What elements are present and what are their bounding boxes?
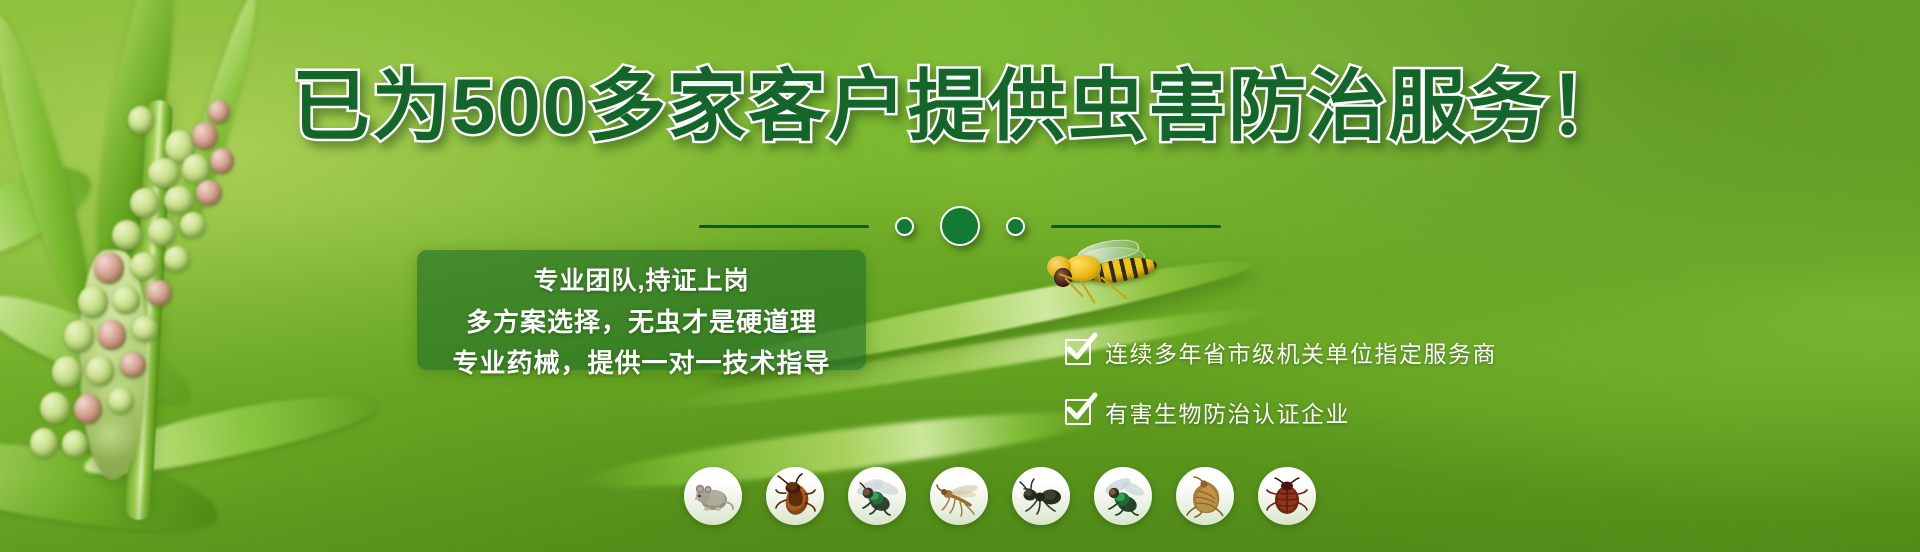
ant-icon — [1018, 473, 1064, 519]
divider-dot-small-right — [1006, 217, 1025, 236]
divider-dot-large — [940, 206, 980, 246]
pest-type-icon-row — [684, 467, 1316, 525]
decorative-divider — [699, 206, 1221, 246]
pest-icon-mosquito[interactable] — [930, 467, 988, 525]
hoverfly-leg — [1078, 277, 1096, 304]
cockroach-icon — [772, 473, 818, 519]
divider-dot-small-left — [895, 217, 914, 236]
checkbox-checked-icon — [1065, 339, 1091, 365]
pest-icon-greenfly[interactable] — [1094, 467, 1152, 525]
pest-control-hero-banner: 已为500多家客户提供虫害防治服务！ 专业团队,持证上岗 多方案选择，无虫才是硬… — [0, 0, 1920, 552]
divider-line-right — [1051, 225, 1221, 228]
list-item: 有害生物防治认证企业 — [1065, 395, 1497, 429]
pest-icon-flea[interactable] — [1176, 467, 1234, 525]
credentials-list: 连续多年省市级机关单位指定服务商 有害生物防治认证企业 — [1065, 335, 1497, 455]
pest-icon-cockroach[interactable] — [766, 467, 824, 525]
slogan-panel-text: 专业团队,持证上岗 多方案选择，无虫才是硬道理 专业药械，提供一对一技术指导 — [417, 252, 866, 384]
greenfly-icon — [1100, 473, 1146, 519]
bedbug-icon — [1264, 473, 1310, 519]
slogan-line-1: 专业团队,持证上岗 — [417, 262, 866, 302]
checkbox-checked-icon — [1065, 399, 1091, 425]
pest-icon-ant[interactable] — [1012, 467, 1070, 525]
divider-line-left — [699, 225, 869, 228]
housefly-icon — [854, 473, 900, 519]
pest-icon-bedbug[interactable] — [1258, 467, 1316, 525]
page-title: 已为500多家客户提供虫害防治服务！ — [0, 66, 1920, 148]
mosquito-icon — [936, 473, 982, 519]
pest-icon-rat[interactable] — [684, 467, 742, 525]
credential-text: 连续多年省市级机关单位指定服务商 — [1105, 335, 1497, 369]
rat-icon — [690, 473, 736, 519]
flea-icon — [1182, 473, 1228, 519]
slogan-line-3: 专业药械，提供一对一技术指导 — [417, 343, 866, 384]
slogan-line-2: 多方案选择，无虫才是硬道理 — [417, 302, 866, 343]
pest-icon-housefly[interactable] — [848, 467, 906, 525]
credential-text: 有害生物防治认证企业 — [1105, 395, 1350, 429]
leaf-blade-decor — [0, 10, 101, 309]
list-item: 连续多年省市级机关单位指定服务商 — [1065, 335, 1497, 369]
hoverfly-icon — [1035, 243, 1161, 303]
